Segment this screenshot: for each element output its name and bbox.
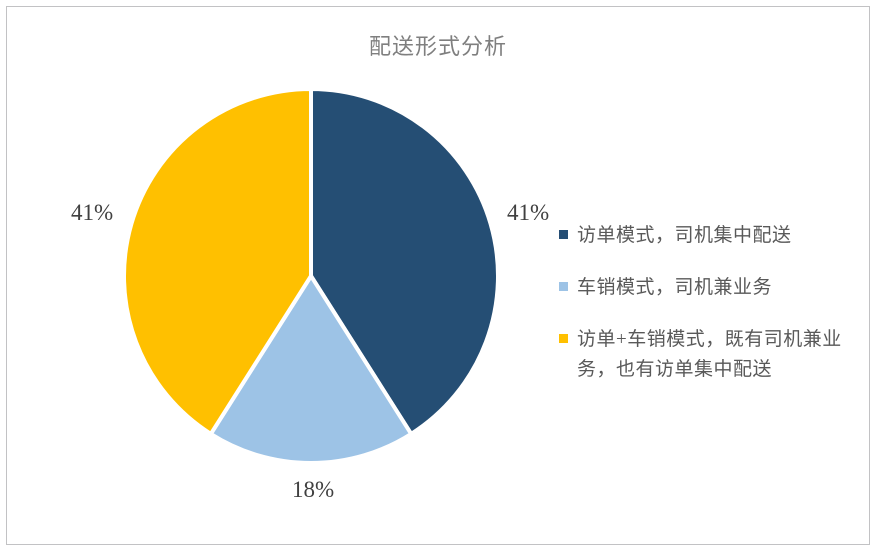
chart-frame: 配送形式分析 41% 41% 18% 访单模式，司机集中配送 车销模式，司机兼业… <box>6 6 870 545</box>
legend-item-yellow[interactable]: 访单+车销模式，既有司机兼业务，也有访单集中配送 <box>559 325 864 385</box>
data-label-yellow: 41% <box>71 200 113 226</box>
legend-swatch-icon-navy <box>559 230 568 239</box>
legend-label-navy: 访单模式，司机集中配送 <box>577 221 792 251</box>
legend-item-navy[interactable]: 访单模式，司机集中配送 <box>559 221 864 251</box>
legend-label-yellow: 访单+车销模式，既有司机兼业务，也有访单集中配送 <box>577 325 864 385</box>
legend-swatch-icon-yellow <box>559 334 568 343</box>
data-label-light-blue: 18% <box>292 477 334 503</box>
legend-swatch-icon-light-blue <box>559 282 568 291</box>
data-label-navy: 41% <box>507 200 549 226</box>
legend-item-light-blue[interactable]: 车销模式，司机兼业务 <box>559 273 864 303</box>
legend-label-light-blue: 车销模式，司机兼业务 <box>577 273 772 303</box>
pie-slices-group <box>124 89 498 463</box>
chart-legend: 访单模式，司机集中配送 车销模式，司机兼业务 访单+车销模式，既有司机兼业务，也… <box>559 221 864 407</box>
